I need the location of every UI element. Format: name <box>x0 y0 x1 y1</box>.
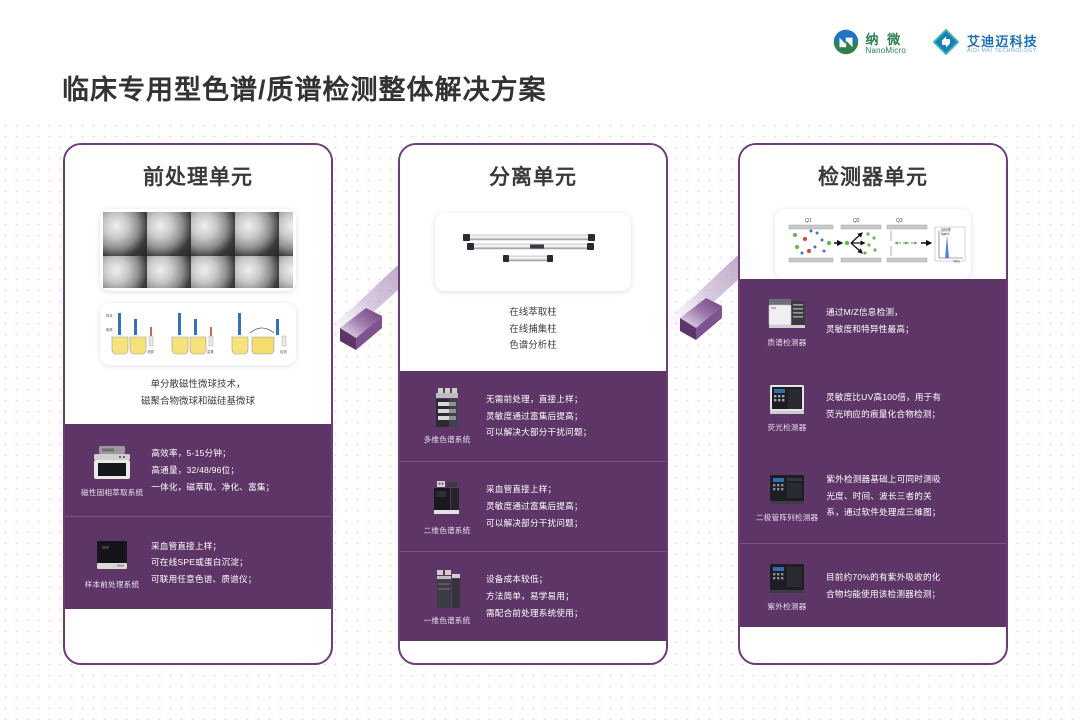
separation-caption-line-1: 在线捕集柱 <box>400 322 666 339</box>
mass-spectrometer-detector-icon: 质谱检测器 <box>756 295 818 348</box>
detector-item-2-label: 二极管阵列检测器 <box>756 512 818 523</box>
detector-item-2[interactable]: 二极管阵列检测器 紫外检测器基础上可同时测吸 光度、时间、波长三者的关 系，通过… <box>740 449 1006 543</box>
chromatography-columns-image <box>435 213 631 291</box>
nanomicro-name-cn: 纳 微 <box>866 33 906 47</box>
detector-item-2-line-0: 紫外检测器基础上可同时测吸 <box>826 471 992 488</box>
pretreatment-caption: 单分散磁性微球技术， 磁聚合物微球和磁硅基微球 <box>65 377 331 424</box>
nanomicro-logo: 纳 微 NanoMicro <box>833 29 906 60</box>
slide-root: 纳 微 NanoMicro 艾迪迈科技 AIDI MAI TECHNOLOGY … <box>0 0 1080 721</box>
separation-item-1-label: 二维色谱系统 <box>424 525 471 536</box>
pretreatment-item-0-line-1: 高通量，32/48/96位； <box>151 462 317 479</box>
separation-item-2[interactable]: 一维色谱系统 设备成本较低； 方法简单，易学易用； 需配合前处理系统使用； <box>400 551 666 641</box>
pretreatment-item-1[interactable]: 样本前处理系统 采血管直接上样； 可在线SPE或蛋白沉淀； 可联用任意色谱、质谱… <box>65 516 331 608</box>
detector-item-2-line-1: 光度、时间、波长三者的关 <box>826 488 992 505</box>
pretreatment-item-1-line-0: 采血管直接上样； <box>151 538 317 555</box>
pretreatment-item-0-label: 磁性固相萃取系统 <box>81 487 143 498</box>
pretreatment-item-1-label: 样本前处理系统 <box>85 579 140 590</box>
sem-texture <box>103 212 293 288</box>
svg-text:洗脱: 洗脱 <box>147 349 154 354</box>
one-dimensional-chromatograph-icon: 一维色谱系统 <box>416 567 478 626</box>
detector-item-3[interactable]: 紫外检测器 目前约70%的有紫外吸收的化 合物均能使用该检测器检测； <box>740 543 1006 627</box>
pretreatment-caption-line-2: 磁聚合物微球和磁硅基微球 <box>65 394 331 411</box>
aidimai-name-en: AIDI MAI TECHNOLOGY <box>967 49 1038 55</box>
multidimensional-chromatograph-icon: 多维色谱系统 <box>416 386 478 445</box>
detector-title: 检测器单元 <box>740 161 1006 191</box>
page-title: 临床专用型色谱/质谱检测整体解决方案 <box>62 68 547 107</box>
separation-title: 分离单元 <box>400 161 666 191</box>
svg-text:富集: 富集 <box>207 349 214 354</box>
pretreatment-item-1-line-2: 可联用任意色谱、质谱仪； <box>151 571 317 588</box>
separation-item-2-line-2: 需配合前处理系统使用； <box>486 605 652 622</box>
detector-item-0-text: 通过M/Z信息检测， 灵敏度和特异性最高； <box>818 304 992 338</box>
separation-item-2-line-1: 方法简单，易学易用； <box>486 588 652 605</box>
separation-item-2-label: 一维色谱系统 <box>424 615 471 626</box>
pretreatment-title: 前处理单元 <box>65 161 331 191</box>
column-separation[interactable]: 分离单元 <box>398 143 668 665</box>
detector-item-1-text: 灵敏度比UV高100倍，用于有 荧光响应的痕量化合物检测； <box>818 389 992 423</box>
separation-caption-line-2: 色谱分析柱 <box>400 338 666 355</box>
nanomicro-logo-text: 纳 微 NanoMicro <box>866 33 906 55</box>
detector-item-2-text: 紫外检测器基础上可同时测吸 光度、时间、波长三者的关 系，通过软件处理成三维图； <box>818 471 992 521</box>
pretreatment-purple-panel: 磁性固相萃取系统 高效率，5-15分钟； 高通量，32/48/96位； 一体化，… <box>65 424 331 609</box>
pretreatment-item-0-line-0: 高效率，5-15分钟； <box>151 445 317 462</box>
nanomicro-logo-mark <box>833 29 859 60</box>
detector-item-3-line-0: 目前约70%的有紫外吸收的化 <box>826 569 992 586</box>
detector-item-0[interactable]: 质谱检测器 通过M/Z信息检测， 灵敏度和特异性最高； <box>740 279 1006 363</box>
separation-caption-line-0: 在线萃取柱 <box>400 305 666 322</box>
two-dimensional-chromatograph-icon: 二维色谱系统 <box>416 477 478 536</box>
aidimai-logo-text: 艾迪迈科技 AIDI MAI TECHNOLOGY <box>967 35 1038 54</box>
detector-item-3-line-1: 合物均能使用该检测器检测； <box>826 586 992 603</box>
separation-item-0[interactable]: 多维色谱系统 无需前处理，直接上样； 灵敏度通过富集后提高； 可以解决大部分干扰… <box>400 371 666 461</box>
detector-item-1-line-1: 荧光响应的痕量化合物检测； <box>826 406 992 423</box>
magnetic-bead-workflow-diagram: 样本 磁珠 洗脱 富集 <box>100 303 296 365</box>
aidimai-name-cn: 艾迪迈科技 <box>967 35 1038 49</box>
separation-item-0-line-0: 无需前处理，直接上样； <box>486 391 652 408</box>
separation-item-0-label: 多维色谱系统 <box>424 434 471 445</box>
q2-label: Q2 <box>853 218 860 224</box>
svg-text:磁珠: 磁珠 <box>106 327 113 332</box>
column-pretreatment[interactable]: 前处理单元 样本 磁珠 洗脱 <box>63 143 333 665</box>
pretreatment-item-1-text: 采血管直接上样； 可在线SPE或蛋白沉淀； 可联用任意色谱、质谱仪； <box>143 538 317 588</box>
separation-item-1-line-2: 可以解决部分干扰问题； <box>486 515 652 532</box>
uv-detector-icon: 紫外检测器 <box>756 559 818 612</box>
fluorescence-detector-icon: 荧光检测器 <box>756 380 818 433</box>
pretreatment-item-1-line-1: 可在线SPE或蛋白沉淀； <box>151 554 317 571</box>
separation-item-1-line-0: 采血管直接上样； <box>486 481 652 498</box>
detector-item-1-line-0: 灵敏度比UV高100倍，用于有 <box>826 389 992 406</box>
diode-array-detector-icon: 二极管阵列检测器 <box>756 470 818 523</box>
magnetic-spe-instrument-icon: 磁性固相萃取系统 <box>81 443 143 498</box>
separation-item-2-line-0: 设备成本较低； <box>486 571 652 588</box>
q3-label: Q3 <box>896 218 903 224</box>
detector-item-2-line-2: 系，通过软件处理成三维图； <box>826 504 992 521</box>
separation-item-1[interactable]: 二维色谱系统 采血管直接上样； 灵敏度通过富集后提高； 可以解决部分干扰问题； <box>400 461 666 551</box>
separation-header: 分离单元 <box>400 145 666 371</box>
separation-item-0-line-2: 可以解决大部分干扰问题； <box>486 424 652 441</box>
separation-purple-panel: 多维色谱系统 无需前处理，直接上样； 灵敏度通过富集后提高； 可以解决大部分干扰… <box>400 371 666 641</box>
separation-item-1-text: 采血管直接上样； 灵敏度通过富集后提高； 可以解决部分干扰问题； <box>478 481 652 531</box>
separation-caption: 在线萃取柱 在线捕集柱 色谱分析柱 <box>400 305 666 371</box>
separation-item-2-text: 设备成本较低； 方法简单，易学易用； 需配合前处理系统使用； <box>478 571 652 621</box>
pretreatment-item-0[interactable]: 磁性固相萃取系统 高效率，5-15分钟； 高通量，32/48/96位； 一体化，… <box>65 424 331 516</box>
detector-item-3-label: 紫外检测器 <box>768 601 807 612</box>
ms-chart-xaxis-label: Time <box>953 260 960 264</box>
detector-item-0-line-0: 通过M/Z信息检测， <box>826 304 992 321</box>
separation-item-0-text: 无需前处理，直接上样； 灵敏度通过富集后提高； 可以解决大部分干扰问题； <box>478 391 652 441</box>
pretreatment-item-0-line-2: 一体化，磁萃取、净化、富集； <box>151 479 317 496</box>
q1-label: Q1 <box>805 218 812 224</box>
detector-purple-panel: 质谱检测器 通过M/Z信息检测， 灵敏度和特异性最高； <box>740 279 1006 627</box>
column-detector[interactable]: 检测器单元 Q1 Q2 Q3 <box>738 143 1008 665</box>
svg-text:5g/mL: 5g/mL <box>941 232 950 236</box>
pretreatment-item-0-text: 高效率，5-15分钟； 高通量，32/48/96位； 一体化，磁萃取、净化、富集… <box>143 445 317 495</box>
sample-pretreatment-instrument-icon: 样本前处理系统 <box>81 535 143 590</box>
svg-text:样本: 样本 <box>106 313 113 318</box>
separation-item-0-line-1: 灵敏度通过富集后提高； <box>486 408 652 425</box>
aidimai-logo-mark <box>932 28 960 61</box>
pretreatment-caption-line-1: 单分散磁性微球技术， <box>65 377 331 394</box>
svg-text:检测: 检测 <box>280 349 287 354</box>
detector-item-1-label: 荧光检测器 <box>768 422 807 433</box>
logo-bar: 纳 微 NanoMicro 艾迪迈科技 AIDI MAI TECHNOLOGY <box>833 28 1039 61</box>
triple-quadrupole-ms-diagram: Q1 Q2 Q3 <box>775 209 971 279</box>
detector-item-0-line-1: 灵敏度和特异性最高； <box>826 321 992 338</box>
pretreatment-header: 前处理单元 样本 磁珠 洗脱 <box>65 145 331 424</box>
aidimai-logo: 艾迪迈科技 AIDI MAI TECHNOLOGY <box>932 28 1038 61</box>
detector-item-3-text: 目前约70%的有紫外吸收的化 合物均能使用该检测器检测； <box>818 569 992 603</box>
microsphere-sem-image <box>100 209 296 291</box>
detector-item-1[interactable]: 荧光检测器 灵敏度比UV高100倍，用于有 荧光响应的痕量化合物检测； <box>740 363 1006 449</box>
detector-item-0-label: 质谱检测器 <box>768 337 807 348</box>
nanomicro-name-en: NanoMicro <box>866 47 906 55</box>
separation-item-1-line-1: 灵敏度通过富集后提高； <box>486 498 652 515</box>
detector-header: 检测器单元 Q1 Q2 Q3 <box>740 145 1006 279</box>
